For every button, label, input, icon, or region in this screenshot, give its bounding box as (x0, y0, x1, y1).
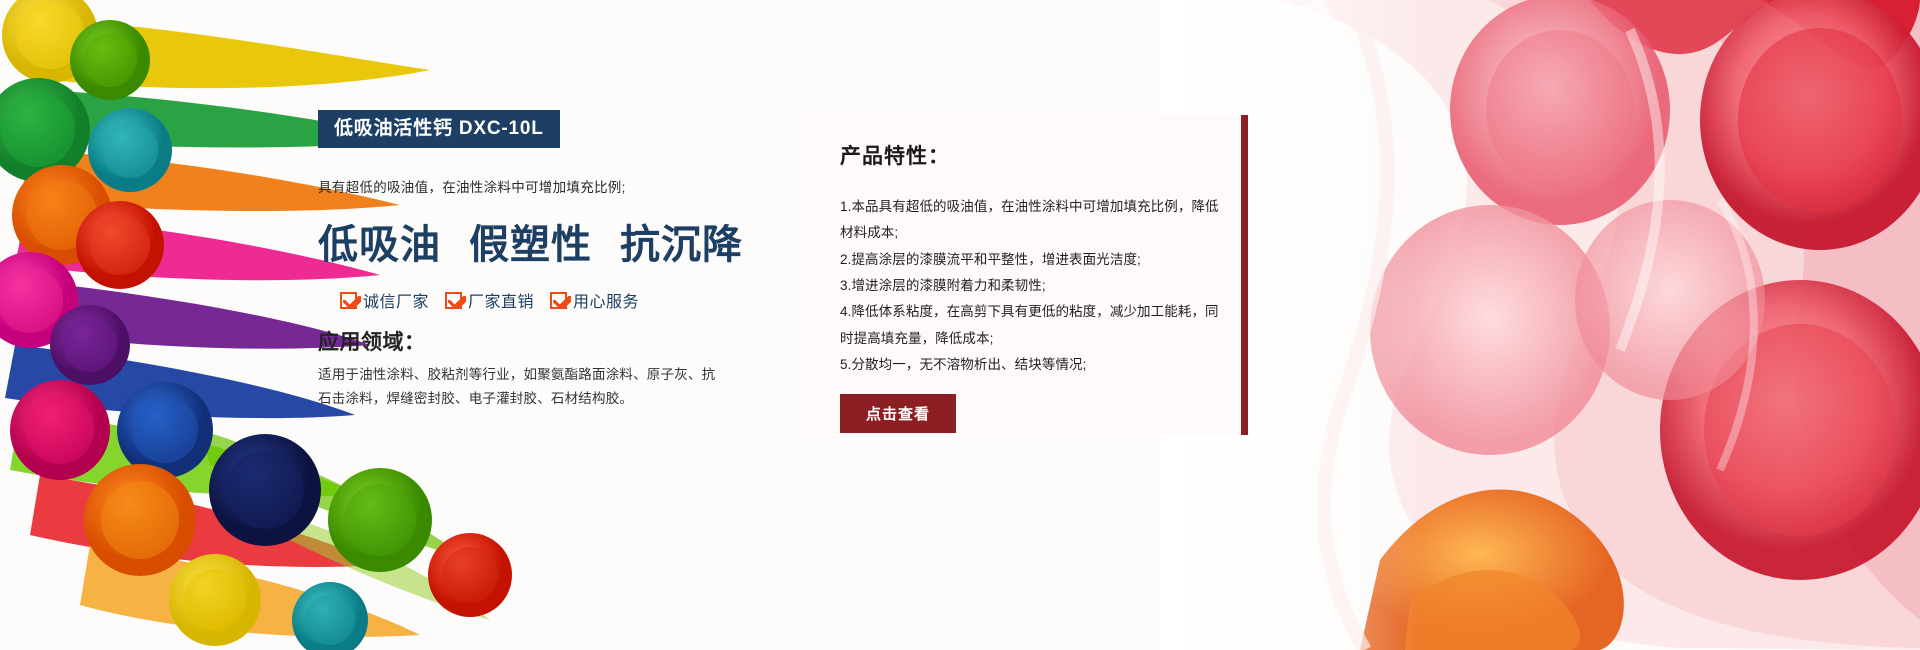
application-section-title: 应用领域： (318, 326, 738, 356)
checkbox-check-icon (550, 292, 567, 309)
panel-accent-bar (1241, 115, 1248, 435)
trust-badge-1: 诚信厂家 (340, 288, 429, 312)
feature-item-2: 2.提高涂层的漆膜流平和平整性，增进表面光洁度; (840, 247, 1232, 273)
trust-badge-label: 厂家直销 (468, 288, 534, 312)
feature-item-5: 5.分散均一，无不溶物析出、结块等情况; (840, 352, 1232, 378)
red-paint-artwork-right (1160, 0, 1920, 650)
feature-item-3: 3.增进涂层的漆膜附着力和柔韧性; (840, 273, 1232, 299)
trust-badge-3: 用心服务 (550, 288, 639, 312)
trust-badge-2: 厂家直销 (445, 288, 534, 312)
trust-badges: 诚信厂家 厂家直销 用心服务 (318, 288, 738, 312)
headline-word-1: 低吸油 (318, 223, 441, 267)
headline-word-2: 假塑性 (469, 223, 592, 267)
view-details-button[interactable]: 点击查看 (840, 394, 956, 433)
application-section-body: 适用于油性涂料、胶粘剂等行业，如聚氨酯路面涂料、原子灰、抗石击涂料，焊缝密封胶、… (318, 363, 718, 410)
checkbox-check-icon (445, 292, 462, 309)
product-title-badge: 低吸油活性钙 DXC-10L (318, 110, 560, 148)
trust-badge-label: 诚信厂家 (363, 288, 429, 312)
product-features-content: 产品特性： 1.本品具有超低的吸油值，在油性涂料中可增加填充比例，降低材料成本;… (840, 140, 1240, 433)
features-list: 1.本品具有超低的吸油值，在油性涂料中可增加填充比例，降低材料成本; 2.提高涂… (840, 194, 1232, 378)
product-subline: 具有超低的吸油值，在油性涂料中可增加填充比例; (318, 176, 738, 196)
trust-badge-label: 用心服务 (573, 288, 639, 312)
promo-banner: 低吸油活性钙 DXC-10L 具有超低的吸油值，在油性涂料中可增加填充比例; 低… (0, 0, 1920, 650)
feature-headline: 低吸油假塑性抗沉降 (318, 212, 738, 270)
feature-item-1: 1.本品具有超低的吸油值，在油性涂料中可增加填充比例，降低材料成本; (840, 194, 1232, 247)
feature-item-4: 4.降低体系粘度，在高剪下具有更低的粘度，减少加工能耗，同时提高填充量，降低成本… (840, 299, 1232, 352)
features-panel-title: 产品特性： (840, 140, 1240, 170)
left-content-column: 低吸油活性钙 DXC-10L 具有超低的吸油值，在油性涂料中可增加填充比例; 低… (318, 110, 738, 410)
checkbox-check-icon (340, 292, 357, 309)
headline-word-3: 抗沉降 (620, 223, 743, 267)
